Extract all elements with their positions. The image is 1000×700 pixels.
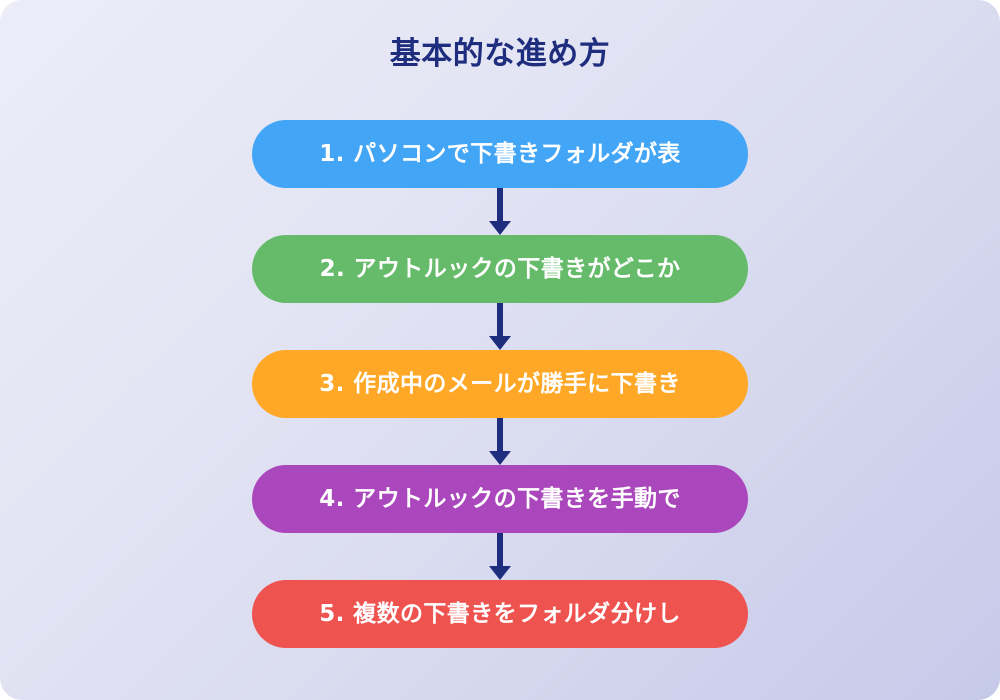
flow-step-label: 4. アウトルックの下書きを手動で (319, 488, 681, 511)
flow-connector-1-to-2 (252, 188, 748, 235)
flow-step-5[interactable]: 5. 複数の下書きをフォルダ分けし (252, 580, 748, 648)
flow-step-label: 1. パソコンで下書きフォルダが表 (319, 143, 681, 166)
flow-connector-2-to-3 (252, 303, 748, 350)
page-title: 基本的な進め方 (0, 28, 1000, 73)
flow-step-2[interactable]: 2. アウトルックの下書きがどこか (252, 235, 748, 303)
flow-step-label: 3. 作成中のメールが勝手に下書き (319, 373, 681, 396)
arrow-down-icon (489, 188, 511, 235)
flowchart-steps-container: 1. パソコンで下書きフォルダが表2. アウトルックの下書きがどこか3. 作成中… (252, 120, 748, 648)
arrow-down-icon (489, 533, 511, 580)
arrow-down-icon (489, 303, 511, 350)
flow-connector-3-to-4 (252, 418, 748, 465)
flow-step-label: 5. 複数の下書きをフォルダ分けし (319, 603, 681, 626)
flow-step-label: 2. アウトルックの下書きがどこか (320, 258, 681, 281)
flow-step-3[interactable]: 3. 作成中のメールが勝手に下書き (252, 350, 748, 418)
flow-step-1[interactable]: 1. パソコンで下書きフォルダが表 (252, 120, 748, 188)
flow-step-4[interactable]: 4. アウトルックの下書きを手動で (252, 465, 748, 533)
arrow-down-icon (489, 418, 511, 465)
flowchart-canvas: 基本的な進め方 1. パソコンで下書きフォルダが表2. アウトルックの下書きがど… (0, 0, 1000, 700)
flow-connector-4-to-5 (252, 533, 748, 580)
